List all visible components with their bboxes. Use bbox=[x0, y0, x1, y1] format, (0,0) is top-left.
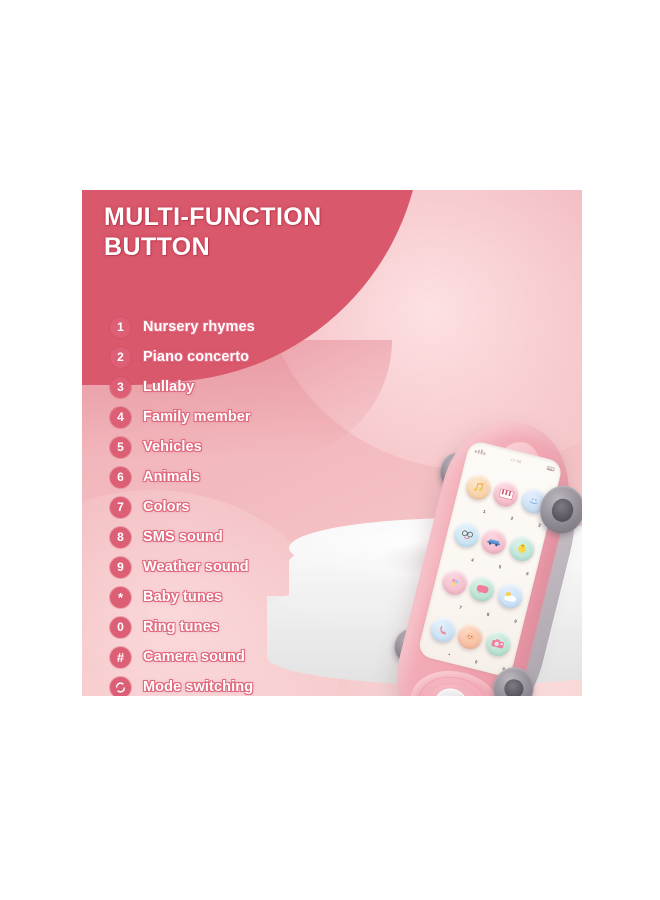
item-badge: 8 bbox=[110, 527, 131, 548]
baby-icon bbox=[455, 622, 485, 652]
list-item[interactable]: Mode switching bbox=[110, 672, 380, 696]
weather-icon bbox=[495, 581, 525, 611]
item-label: Colors bbox=[143, 499, 190, 515]
chick-icon bbox=[507, 533, 537, 563]
item-label: Piano concerto bbox=[143, 349, 249, 365]
item-badge: # bbox=[110, 647, 131, 668]
item-badge: 6 bbox=[110, 467, 131, 488]
item-badge: 1 bbox=[110, 317, 131, 338]
battery-icon bbox=[546, 466, 555, 472]
item-label: Mode switching bbox=[143, 679, 253, 695]
music-notes-icon bbox=[464, 472, 494, 502]
item-label: Vehicles bbox=[143, 439, 202, 455]
item-label: Family member bbox=[143, 409, 251, 425]
item-badge: 2 bbox=[110, 347, 131, 368]
item-badge bbox=[110, 677, 131, 697]
camera-icon bbox=[483, 629, 513, 659]
page-title: MULTI-FUNCTION BUTTON bbox=[104, 202, 404, 262]
item-label: Camera sound bbox=[143, 649, 245, 665]
item-badge: 7 bbox=[110, 497, 131, 518]
piano-icon bbox=[491, 479, 521, 509]
item-label: Weather sound bbox=[143, 559, 249, 575]
list-item[interactable]: 6 Animals bbox=[110, 462, 380, 492]
item-label: Lullaby bbox=[143, 379, 194, 395]
key-number: * bbox=[448, 653, 451, 658]
title-line-1: MULTI-FUNCTION bbox=[104, 203, 322, 231]
mode-switch-icon bbox=[114, 681, 127, 694]
list-item[interactable]: 0 Ring tunes bbox=[110, 612, 380, 642]
item-badge: 4 bbox=[110, 407, 131, 428]
list-item[interactable]: 8 SMS sound bbox=[110, 522, 380, 552]
item-badge: * bbox=[110, 587, 131, 608]
status-time: 12:08 bbox=[510, 456, 522, 464]
list-item[interactable]: 7 Colors bbox=[110, 492, 380, 522]
item-label: SMS sound bbox=[143, 529, 223, 545]
car-icon bbox=[479, 526, 509, 556]
item-badge: 9 bbox=[110, 557, 131, 578]
item-label: Nursery rhymes bbox=[143, 319, 255, 335]
infographic-canvas: MULTI-FUNCTION BUTTON 12:08 bbox=[0, 0, 660, 900]
palette-icon bbox=[440, 567, 470, 597]
list-item[interactable]: * Baby tunes bbox=[110, 582, 380, 612]
list-item[interactable]: # Camera sound bbox=[110, 642, 380, 672]
title-line-2: BUTTON bbox=[104, 232, 404, 262]
list-item[interactable]: 4 Family member bbox=[110, 402, 380, 432]
mode-switch-icon bbox=[439, 694, 462, 696]
list-item[interactable]: 9 Weather sound bbox=[110, 552, 380, 582]
item-badge: 0 bbox=[110, 617, 131, 638]
list-item[interactable]: 1 Nursery rhymes bbox=[110, 312, 380, 342]
item-label: Animals bbox=[143, 469, 200, 485]
face-icon bbox=[452, 520, 482, 550]
list-item[interactable]: 3 Lullaby bbox=[110, 372, 380, 402]
item-badge: 3 bbox=[110, 377, 131, 398]
item-label: Baby tunes bbox=[143, 589, 222, 605]
list-item[interactable]: 5 Vehicles bbox=[110, 432, 380, 462]
list-item[interactable]: 2 Piano concerto bbox=[110, 342, 380, 372]
signal-dots-icon bbox=[474, 447, 486, 455]
item-label: Ring tunes bbox=[143, 619, 219, 635]
phone-icon bbox=[428, 615, 458, 645]
item-badge: 5 bbox=[110, 437, 131, 458]
message-icon bbox=[467, 574, 497, 604]
key-number: 0 bbox=[474, 659, 478, 664]
function-list: 1 Nursery rhymes 2 Piano concerto 3 Lull… bbox=[110, 312, 380, 696]
feature-panel: MULTI-FUNCTION BUTTON 12:08 bbox=[82, 190, 582, 696]
